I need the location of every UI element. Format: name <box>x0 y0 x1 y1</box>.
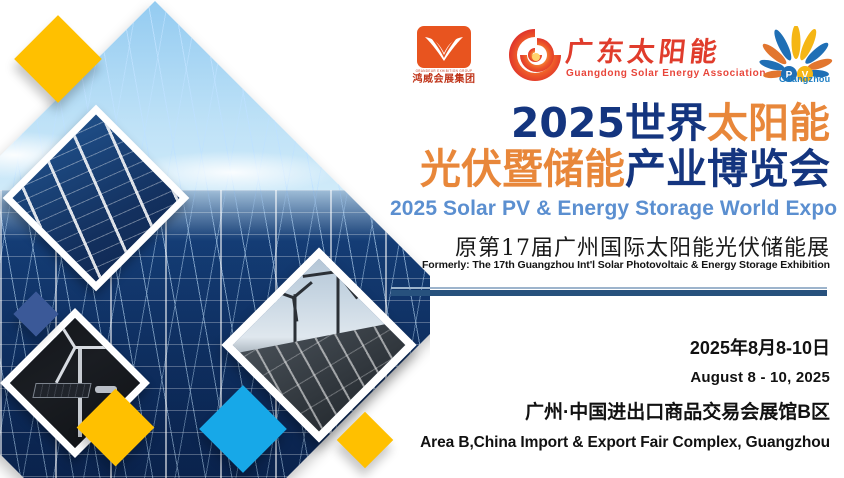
hongwei-logo-english: GRANDEUR EXHIBITION GROUP <box>412 69 476 75</box>
headline-line-1-blue: 2025世界 <box>511 99 707 147</box>
hongwei-exhibition-group-logo: GRANDEUR EXHIBITION GROUP 鸿威会展集团 <box>412 26 476 88</box>
event-date-english: August 8 - 10, 2025 <box>390 369 830 386</box>
event-info: 2025年8月8-10日 August 8 - 10, 2025 广州·中国进出… <box>390 334 830 452</box>
wings-w-icon <box>417 26 471 68</box>
expo-poster: GRANDEUR EXHIBITION GROUP 鸿威会展集团 <box>0 0 844 478</box>
divider <box>391 287 827 296</box>
headline-line-2: 光伏暨储能产业博览会 <box>390 146 830 192</box>
pv-guangzhou-logo: P V Guangzhou <box>748 26 844 88</box>
headline-line-2-orange: 光伏暨储能 <box>420 145 625 193</box>
event-venue-english: Area B,China Import & Export Fair Comple… <box>390 434 830 452</box>
event-date-chinese: 2025年8月8-10日 <box>390 334 830 360</box>
headline-line-2-blue: 产业博览会 <box>625 145 830 193</box>
event-venue-chinese: 广州·中国进出口商品交易会展馆B区 <box>390 397 830 424</box>
guangdong-solar-energy-association-logo: 广东太阳能 Guangdong Solar Energy Association <box>508 28 732 88</box>
page-title: 2025世界太阳能 光伏暨储能产业博览会 <box>390 100 830 192</box>
pv-guangzhou-caption: Guangzhou <box>779 74 830 84</box>
former-name-english: Formerly: The 17th Guangzhou Int'l Solar… <box>390 259 830 271</box>
logo-row: GRANDEUR EXHIBITION GROUP 鸿威会展集团 <box>400 26 844 90</box>
hongwei-logo-chinese: 鸿威会展集团 <box>412 74 476 86</box>
poster-content: GRANDEUR EXHIBITION GROUP 鸿威会展集团 <box>390 0 844 478</box>
subtitle-english: 2025 Solar PV & Energy Storage World Exp… <box>390 197 830 221</box>
former-name-chinese: 原第17届广州国际太阳能光伏储能展 <box>390 230 830 262</box>
yellow-diamond-right <box>337 412 394 469</box>
gsea-logo-chinese: 广东太阳能 <box>564 30 723 69</box>
gsea-logo-english: Guangdong Solar Energy Association <box>566 68 766 79</box>
headline-line-1: 2025世界太阳能 <box>390 100 830 146</box>
photo-collage <box>0 0 430 478</box>
spiral-sun-icon <box>508 28 562 82</box>
headline-line-1-orange: 太阳能 <box>707 99 830 147</box>
